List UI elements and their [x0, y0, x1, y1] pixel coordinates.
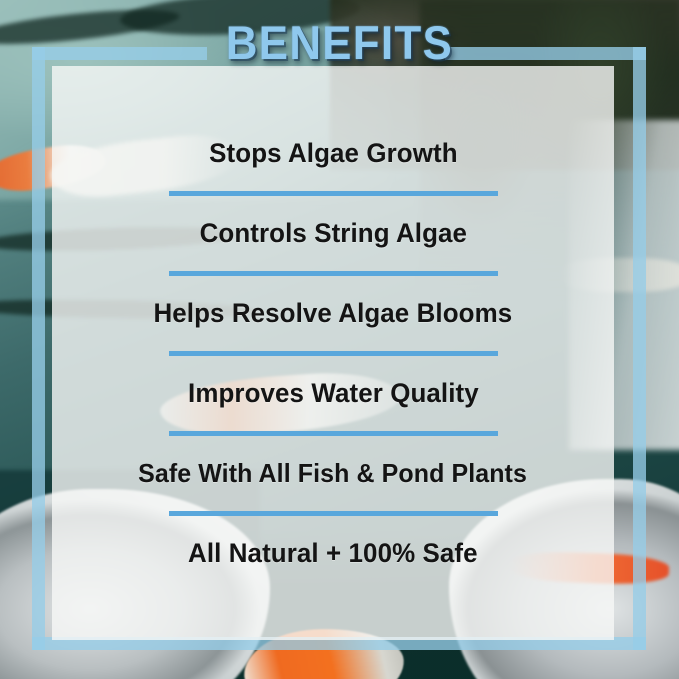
divider-line: [169, 191, 498, 196]
page-title: BENEFITS: [24, 19, 655, 66]
divider-line: [169, 511, 498, 516]
benefit-label: Helps Resolve Algae Blooms: [154, 298, 513, 329]
benefit-label: Improves Water Quality: [188, 378, 479, 409]
list-item: All Natural + 100% Safe: [52, 516, 614, 590]
frame-left-edge: [32, 47, 45, 650]
benefits-poster: BENEFITS Stops Algae Growth Controls Str…: [0, 0, 679, 679]
frame-right-edge: [633, 47, 646, 650]
divider-line: [169, 351, 498, 356]
list-item: Helps Resolve Algae Blooms: [52, 276, 614, 350]
divider-line: [169, 271, 498, 276]
benefit-label: Stops Algae Growth: [209, 138, 457, 169]
benefit-label: All Natural + 100% Safe: [188, 538, 478, 569]
list-item: Stops Algae Growth: [52, 116, 614, 190]
list-item: Improves Water Quality: [52, 356, 614, 430]
benefit-label: Controls String Algae: [199, 218, 466, 249]
divider-line: [169, 431, 498, 436]
list-item: Controls String Algae: [52, 196, 614, 270]
list-item: Safe With All Fish & Pond Plants: [52, 436, 614, 510]
benefits-list: Stops Algae Growth Controls String Algae…: [52, 66, 614, 640]
benefit-label: Safe With All Fish & Pond Plants: [139, 458, 528, 489]
